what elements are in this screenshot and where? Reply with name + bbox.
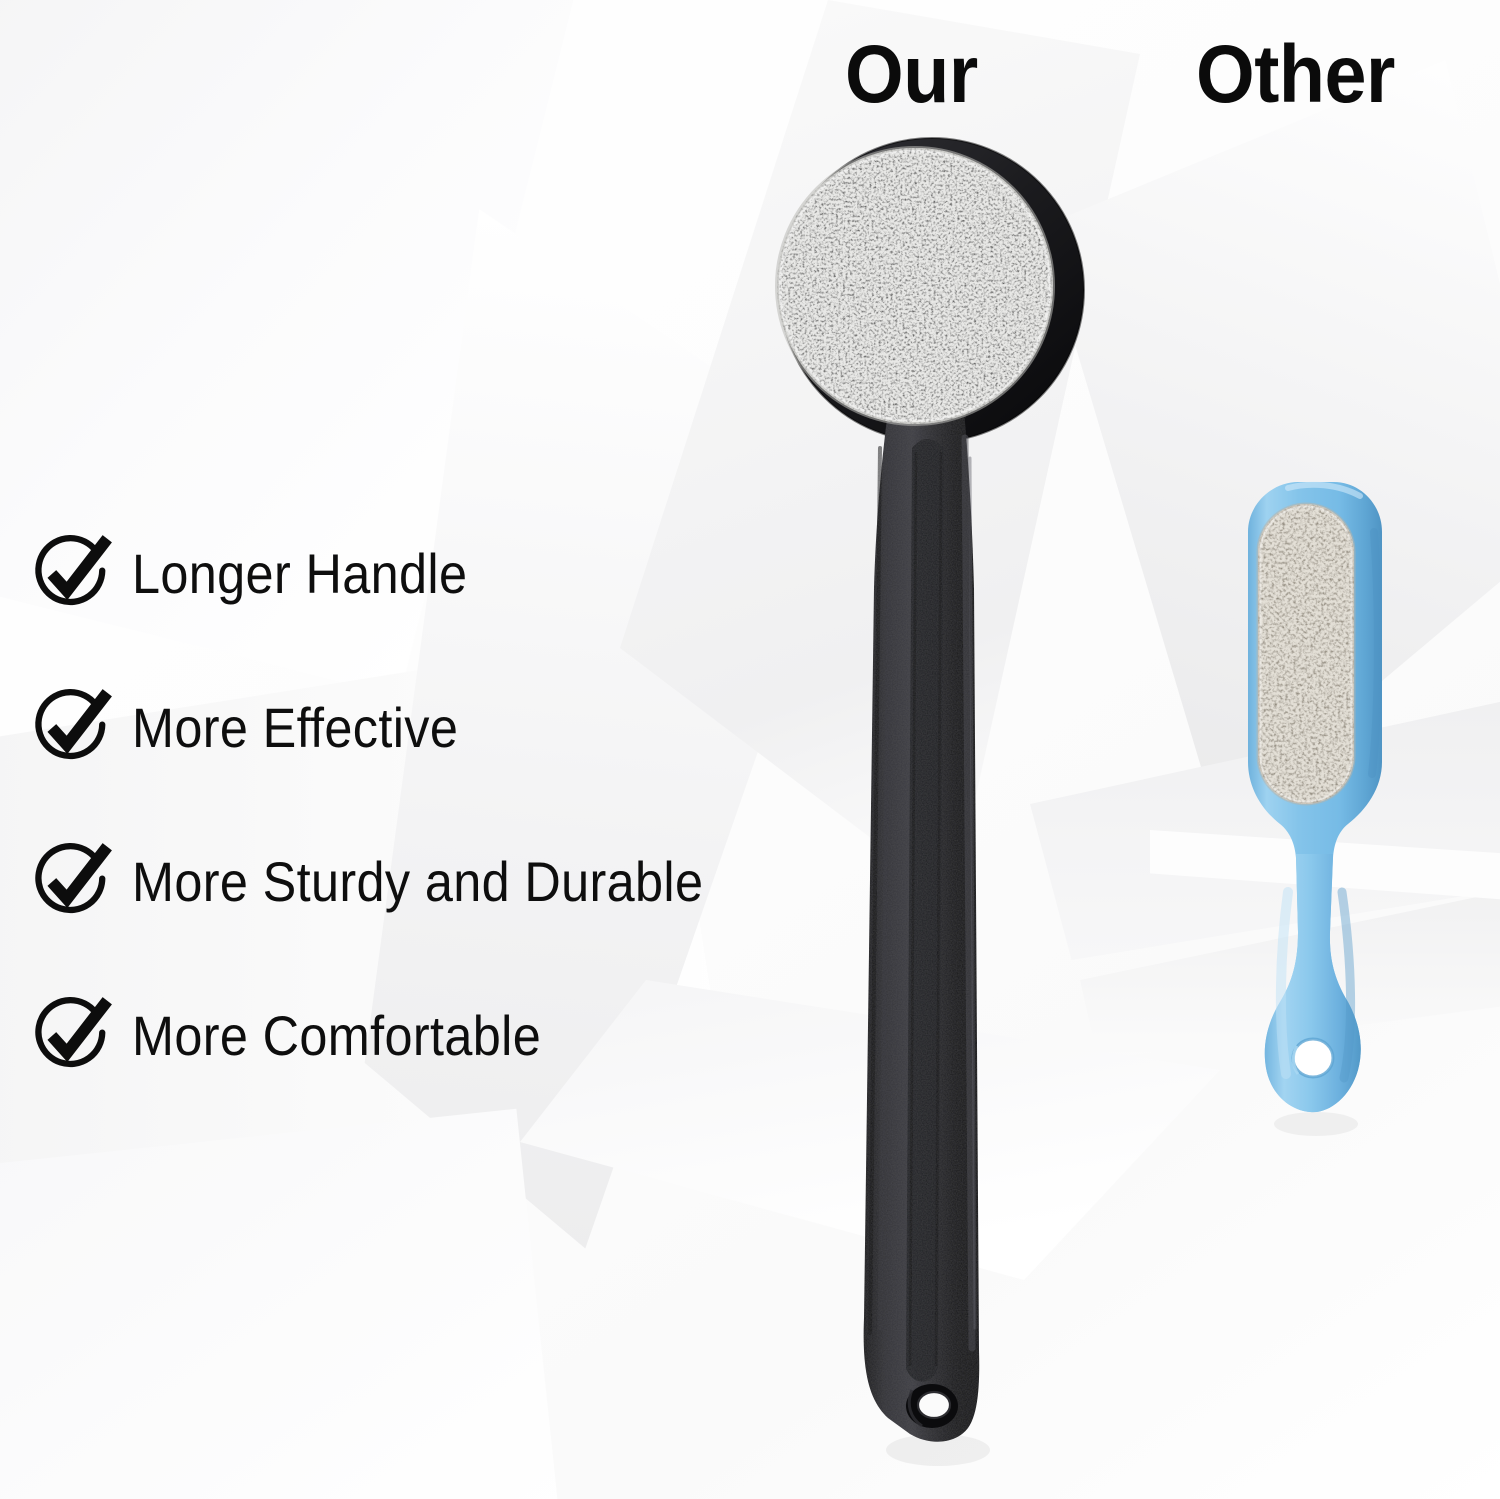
other-column-heading: Other xyxy=(1196,34,1395,116)
hang-hole xyxy=(906,1384,958,1428)
list-item-label: Longer Handle xyxy=(132,546,467,602)
our-product-image xyxy=(760,118,1140,1488)
list-item-label: More Effective xyxy=(132,700,458,756)
list-item: More Effective xyxy=(30,682,870,774)
blue-foot-file xyxy=(1230,462,1420,1142)
check-circle-icon xyxy=(30,994,114,1078)
list-item: More Sturdy and Durable xyxy=(30,836,870,928)
feature-list: Longer Handle More Effective More Sturdy… xyxy=(30,528,870,1144)
list-item-label: More Comfortable xyxy=(132,1008,541,1064)
check-circle-icon xyxy=(30,840,114,924)
our-column-heading: Our xyxy=(845,34,978,116)
check-circle-icon xyxy=(30,686,114,770)
list-item-label: More Sturdy and Durable xyxy=(132,854,703,910)
hang-hole xyxy=(1293,1039,1333,1077)
check-circle-icon xyxy=(30,532,114,616)
product-comparison-image: Our Other Longer Handle More Effective M… xyxy=(0,0,1500,1499)
pumice-stone-pad xyxy=(1250,496,1370,816)
brush-handle xyxy=(864,356,980,1442)
list-item: Longer Handle xyxy=(30,528,870,620)
other-product-image xyxy=(1230,462,1420,1142)
list-item: More Comfortable xyxy=(30,990,870,1082)
long-handle-pumice-brush xyxy=(760,118,1140,1488)
